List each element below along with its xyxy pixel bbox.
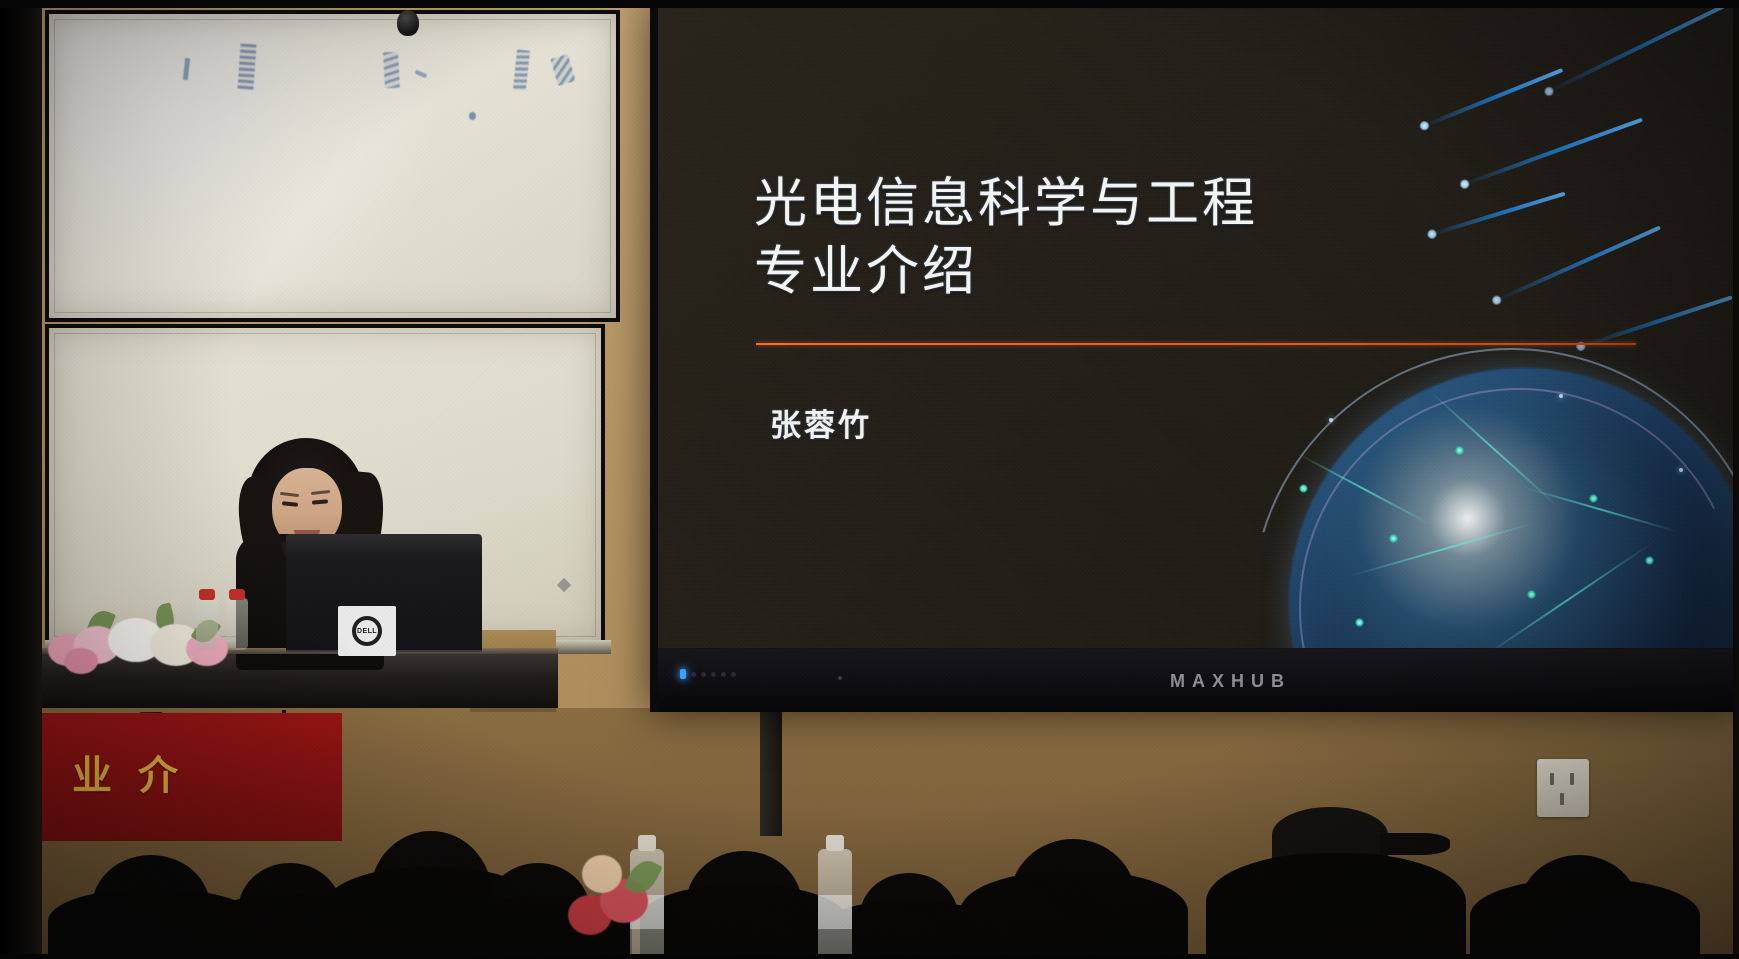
audience-foreground: [0, 629, 1739, 959]
audience-shoulders: [1206, 853, 1466, 959]
fiber-optic-streak: [1579, 295, 1732, 348]
cap-brim: [1380, 833, 1450, 855]
network-node: [1645, 556, 1654, 565]
image-frame-right: [1733, 0, 1739, 959]
network-link: [1297, 453, 1430, 525]
slide-presenter-name: 张蓉竹: [770, 400, 872, 445]
marker-mark: [383, 52, 400, 89]
globe-sphere: [1289, 368, 1739, 648]
foreground-flower: [560, 839, 680, 959]
network-link: [1352, 522, 1535, 576]
star-speck: [1329, 418, 1333, 422]
bottle-cap: [229, 589, 245, 600]
fiber-optic-streak: [1463, 118, 1643, 187]
globe-arc: [1259, 298, 1739, 648]
fiber-endpoint-dot: [1458, 178, 1471, 191]
fiber-optic-streak: [1495, 226, 1661, 303]
image-frame-bottom: [0, 954, 1739, 959]
network-node: [1589, 494, 1598, 503]
foreground-water-bottle[interactable]: [818, 849, 852, 959]
whiteboard-knob: [397, 10, 419, 36]
audience-shoulders: [1470, 879, 1700, 959]
audience-shoulders: [960, 871, 1188, 959]
network-node: [1299, 484, 1308, 493]
globe-atmosphere: [1289, 368, 1739, 648]
fiber-endpoint-dot: [1542, 85, 1555, 98]
globe-network-graphic: [1259, 298, 1739, 648]
fiber-optic-streak: [1423, 68, 1564, 128]
fiber-endpoint-dot: [1418, 119, 1431, 132]
network-node: [1389, 534, 1398, 543]
whiteboard-upper-panel: [45, 10, 620, 322]
maxhub-display[interactable]: 光电信息科学与工程 专业介绍 张蓉竹 MAXHUB: [650, 0, 1739, 712]
bottle-cap: [826, 835, 844, 851]
image-frame-top: [0, 0, 1739, 8]
network-node: [1527, 590, 1536, 599]
marker-mark: [469, 112, 476, 120]
presentation-slide: 光电信息科学与工程 专业介绍 张蓉竹: [658, 0, 1739, 648]
image-frame-left: [0, 0, 42, 959]
network-node: [1355, 618, 1364, 627]
globe-arc: [1259, 331, 1739, 648]
display-panel: 光电信息科学与工程 专业介绍 张蓉竹: [658, 0, 1739, 648]
fiber-endpoint-dot: [1575, 340, 1588, 353]
fiber-endpoint-dot: [1490, 294, 1503, 307]
lecture-hall-scene: 光电信息科学与工程 专业介绍 张蓉竹 MAXHUB: [0, 0, 1739, 959]
flower-petal: [582, 855, 622, 893]
star-speck: [1679, 468, 1683, 472]
fiber-optic-streak: [1547, 2, 1729, 93]
network-link: [1522, 486, 1676, 532]
network-link: [1430, 391, 1557, 506]
bottle-cap: [199, 589, 215, 600]
network-node: [1455, 446, 1464, 455]
slide-accent-rule: [756, 343, 1636, 345]
slide-title-line-2: 专业介绍: [754, 238, 1394, 306]
whiteboard-surface-upper: [49, 14, 616, 318]
fiber-optic-streak: [1430, 192, 1565, 237]
marker-mark: [237, 43, 256, 90]
star-speck: [1559, 394, 1563, 398]
fiber-endpoint-dot: [1426, 228, 1438, 240]
slide-title-line-1: 光电信息科学与工程: [754, 170, 1394, 238]
slide-title: 光电信息科学与工程 专业介绍: [754, 170, 1394, 306]
bottle-label: [818, 895, 852, 929]
